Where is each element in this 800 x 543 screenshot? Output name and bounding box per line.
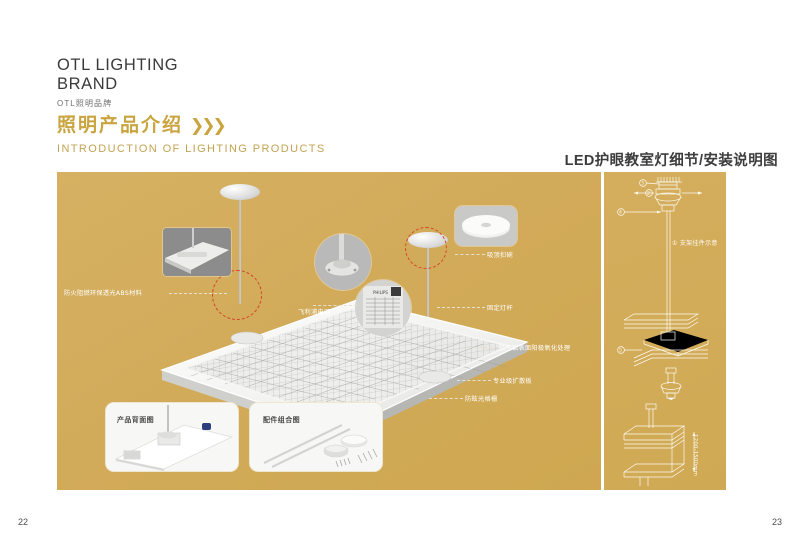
brand-subtitle: OTL照明品牌: [57, 98, 337, 109]
brand-line-2: BRAND: [57, 75, 337, 94]
card-back-view-title: 产品背面图: [117, 415, 154, 425]
product-detail-panel: PHILIPS: [57, 172, 604, 490]
leader-antiglare: [429, 398, 463, 399]
technical-caption: ① 支架挂件示意: [672, 238, 718, 247]
leader-rod: [437, 307, 485, 308]
highlight-circle-left: [212, 270, 262, 320]
svg-text:3: 3: [641, 181, 644, 187]
svg-text:PHILIPS: PHILIPS: [373, 290, 388, 295]
callout-diffuser: 专业级扩散板: [493, 376, 532, 385]
brand-line-1: OTL LIGHTING: [57, 56, 337, 75]
detail-inset-endcap: [163, 228, 231, 276]
detail-inset-driver-label: PHILIPS: [355, 280, 411, 336]
svg-text:4: 4: [619, 210, 622, 216]
svg-text:2: 2: [647, 191, 650, 197]
dimension-label: 1200-1500mm: [692, 434, 698, 476]
callout-philips-driver: 飞利浦电源: [298, 307, 330, 316]
callout-fixed-rod: 固定灯杆: [487, 303, 513, 312]
chevron-right-icon: ❯❯❯: [190, 115, 224, 137]
section-heading: 照明产品介绍 ❯❯❯ INTRODUCTION OF LIGHTING PROD…: [57, 115, 326, 155]
leader-anodized: [469, 347, 497, 348]
detail-inset-rod-joint: [315, 234, 371, 290]
technical-drawing: 3 2 4 5: [604, 172, 726, 490]
brand-block: OTL LIGHTING BRAND OTL照明品牌: [57, 56, 337, 109]
highlight-circle-right: [405, 227, 447, 269]
catalog-page: OTL LIGHTING BRAND OTL照明品牌 照明产品介绍 ❯❯❯ IN…: [0, 0, 800, 543]
page-title: LED护眼教室灯细节/安装说明图: [565, 149, 778, 170]
leader-driver: [313, 305, 357, 306]
callout-anodized: 航空铝表面阳极氧化处理: [499, 343, 570, 352]
leader-diffuser: [457, 380, 491, 381]
callout-abs-material: 防火阻燃环保透光ABS材料: [64, 288, 142, 297]
leader-abs-material: [169, 293, 227, 294]
page-number-right: 23: [772, 517, 782, 527]
card-back-view: [105, 402, 239, 472]
page-number-left: 22: [18, 517, 28, 527]
section-title-en: INTRODUCTION OF LIGHTING PRODUCTS: [57, 143, 326, 155]
detail-inset-canopy: [455, 206, 517, 246]
svg-text:5: 5: [619, 348, 622, 354]
installation-diagram-panel: 3 2 4 5: [604, 172, 726, 490]
section-title-cn: 照明产品介绍: [57, 115, 183, 137]
section-title-cn-row: 照明产品介绍 ❯❯❯: [57, 115, 326, 137]
leader-canopy: [455, 254, 485, 255]
callout-ceiling-cap: 吸顶扣碗: [487, 250, 513, 259]
callout-antiglare: 防眩光格栅: [465, 394, 497, 403]
card-accessory-set: [249, 402, 383, 472]
card-accessory-set-title: 配件组合图: [263, 415, 300, 425]
